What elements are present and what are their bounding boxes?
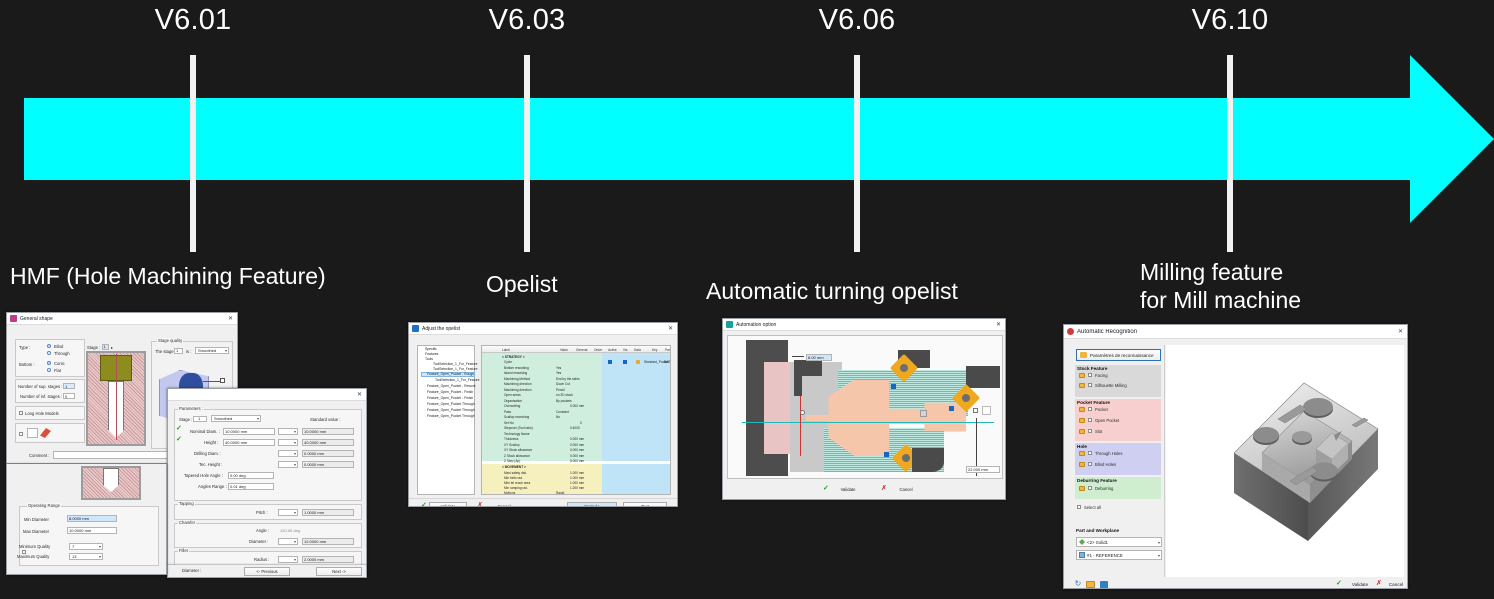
row-value-14: 0.000 mm bbox=[570, 437, 584, 441]
tree-item-2[interactable]: Tools bbox=[425, 357, 433, 361]
titlebar: Automatic Recognition ✕ bbox=[1064, 325, 1407, 339]
row-value-6: on 3D stock bbox=[556, 393, 573, 397]
checkbox-silhouette[interactable] bbox=[1088, 383, 1092, 387]
milestone-caption-4: Milling feature for Mill machine bbox=[1140, 258, 1301, 314]
timeline-tick-2 bbox=[524, 55, 530, 252]
row-value-7: By pockets bbox=[556, 399, 572, 403]
row-label-12: Stepover (Tool ratio) bbox=[504, 426, 533, 430]
tree-item-5[interactable]: Feature_Open_Pocket - Rough bbox=[427, 372, 474, 376]
row-vis-0[interactable] bbox=[623, 360, 627, 364]
col-key: Key bbox=[652, 348, 658, 352]
tool-holder-bottom bbox=[912, 448, 944, 472]
color-swatch[interactable] bbox=[27, 428, 38, 438]
timeline-arrow-body bbox=[24, 98, 1413, 180]
label-silhouette: Silhouette Milling bbox=[1095, 383, 1127, 388]
angles-value: 0.01 deg bbox=[230, 484, 246, 489]
stage-label: Stage : bbox=[87, 345, 100, 350]
row-value-5: Pencil bbox=[556, 388, 565, 392]
version-label-4: V6.10 bbox=[1192, 4, 1269, 37]
sup-stages-label: Number of sup. stages : bbox=[18, 384, 62, 389]
mrow-label-0: Maxi safety dist. bbox=[504, 471, 527, 475]
radio-flat-label: Flat bbox=[54, 368, 61, 373]
row-label-5: Machining direction bbox=[504, 388, 531, 392]
chuck-zone bbox=[764, 362, 790, 454]
row-label-8: Overcutting bbox=[504, 404, 520, 408]
handle-2[interactable] bbox=[949, 406, 954, 411]
handle-3[interactable] bbox=[884, 452, 889, 457]
titlebar: Automation option ✕ bbox=[723, 319, 1005, 331]
milestone-caption-3: Automatic turning opelist bbox=[706, 277, 958, 305]
model-viewport[interactable] bbox=[1166, 345, 1404, 577]
row-label-7: Organisation bbox=[504, 399, 522, 403]
label-through-holes: Through Holes bbox=[1095, 451, 1122, 456]
cancel-button[interactable]: Cancel bbox=[889, 485, 923, 494]
inf-stages-label: Number of inf. stages : bbox=[20, 394, 62, 399]
centerline bbox=[742, 422, 994, 423]
row-label-4: Tec. Height : bbox=[199, 462, 222, 467]
row-label-4: Machining direction bbox=[504, 382, 531, 386]
tree-item-1[interactable]: Features bbox=[425, 352, 438, 356]
row-label-9: Pass bbox=[504, 410, 511, 414]
label-blind-holes: Blind Holes bbox=[1095, 462, 1116, 467]
quality-select[interactable]: Smoothed bbox=[195, 347, 229, 354]
refresh-icon[interactable]: ↻ bbox=[1072, 579, 1084, 589]
sup-stages-value: 1 bbox=[65, 384, 67, 389]
tree-item-3[interactable]: ToolSelection_1_For_Feature bbox=[433, 362, 477, 366]
table-header: Label Value General Order Active Vis. Da… bbox=[482, 346, 670, 353]
screenshot-turning[interactable]: Automation option ✕ bbox=[722, 318, 1006, 500]
screenshot-opelist[interactable]: Adjust the opelist ✕ Specific Features T… bbox=[408, 322, 678, 507]
recognition-params-button[interactable]: Paramètres de reconnaissance bbox=[1076, 349, 1161, 361]
open-folder-icon[interactable] bbox=[1086, 581, 1095, 588]
radio-flat[interactable] bbox=[47, 368, 51, 372]
cancel-icon: ✗ bbox=[1376, 580, 1382, 587]
radio-blind-label: Blind bbox=[54, 344, 63, 349]
panel-divider bbox=[1164, 345, 1165, 577]
fillet-unit-select[interactable] bbox=[278, 556, 298, 563]
row-label-1: Bottom reworking bbox=[504, 366, 529, 370]
standard-value-label: Standard value : bbox=[310, 417, 341, 422]
folder-icon-blind-holes[interactable] bbox=[1079, 462, 1085, 467]
version-label-2: V6.03 bbox=[489, 4, 566, 37]
section-view-small bbox=[81, 466, 141, 500]
radio-through[interactable] bbox=[47, 351, 51, 355]
window-title: General shape bbox=[20, 316, 53, 322]
row-label-3: Machining Method bbox=[504, 377, 530, 381]
mrow-value-0: 1.000 mm bbox=[570, 471, 584, 475]
tree-item-11[interactable]: Feature_Open_Pocket Through bbox=[427, 408, 475, 412]
row-value-3: End by the sides bbox=[556, 377, 580, 381]
col-general: General bbox=[576, 348, 587, 352]
stage-value: 1 bbox=[104, 344, 106, 349]
handle-right-1[interactable] bbox=[973, 408, 978, 413]
max-quality-select[interactable]: 13 bbox=[69, 553, 103, 560]
row-label-11: Set No bbox=[504, 421, 514, 425]
radio-conic[interactable] bbox=[47, 361, 51, 365]
max-diameter-value: 10.0000 mm bbox=[69, 528, 91, 533]
handle-1[interactable] bbox=[891, 384, 896, 389]
text-button[interactable]: Text bbox=[623, 502, 667, 507]
chamfer-standard-value: 12.0000 mm bbox=[304, 539, 326, 544]
row-standard-value-1: 10.0000 mm bbox=[304, 429, 326, 434]
section-view bbox=[86, 351, 146, 446]
mrow-value-2: 1.000 mm bbox=[570, 481, 584, 485]
validate-icon: ✓ bbox=[1336, 580, 1342, 587]
cancel-button[interactable]: Cancel bbox=[1384, 580, 1408, 589]
row-label-17: Z Stock allowance bbox=[504, 454, 530, 458]
row-value-10: No bbox=[556, 415, 560, 419]
min-quality-select[interactable]: 7 bbox=[69, 543, 103, 550]
section-title-pocket: Pocket Feature bbox=[1077, 400, 1110, 405]
dim-top-value: 8.00 mm bbox=[808, 355, 824, 360]
row-unit-select-4[interactable] bbox=[278, 461, 298, 468]
row-unit-select-2[interactable] bbox=[278, 439, 298, 446]
timeline-arrow-head bbox=[1410, 55, 1494, 223]
mrow-value-4: Rapid bbox=[556, 491, 564, 495]
row-value-4: Down Cut bbox=[556, 382, 570, 386]
close-icon[interactable]: ✕ bbox=[1398, 329, 1404, 335]
opelist-table[interactable]: Label Value General Order Active Vis. Da… bbox=[481, 345, 671, 495]
stage-quality-title: Stage quality bbox=[157, 338, 183, 343]
row-value-1: 10.0000 mm bbox=[225, 429, 247, 434]
version-label-1: V6.01 bbox=[155, 4, 232, 37]
milestone-caption-2: Opelist bbox=[486, 270, 558, 298]
row-label-0: Cycle bbox=[504, 360, 512, 364]
tapping-unit-select[interactable] bbox=[278, 509, 298, 516]
app-icon bbox=[10, 315, 17, 322]
validate-button[interactable]: Validate bbox=[429, 502, 467, 507]
label-pocket: Pocket bbox=[1095, 407, 1108, 412]
chamfer-unit-select[interactable] bbox=[278, 538, 298, 545]
row-value-2: 40.0000 mm bbox=[225, 440, 247, 445]
validate-button[interactable]: Validate bbox=[1345, 580, 1375, 589]
stage-quality-select[interactable]: Smoothed bbox=[211, 415, 261, 422]
dim-top-leader bbox=[792, 356, 804, 357]
drill-shape-small bbox=[103, 468, 119, 486]
tapered-value: 0.00 deg bbox=[230, 473, 246, 478]
mrow-label-3: Min ramping rad. bbox=[504, 486, 528, 490]
parameters-group-title: Parameters : bbox=[178, 406, 204, 411]
row-label-14: Thickness bbox=[504, 437, 518, 441]
handle-right-2[interactable] bbox=[982, 406, 991, 415]
col-order: Order bbox=[594, 348, 602, 352]
row-label-13: Technology Name bbox=[504, 432, 530, 436]
fillet-standard-value: 2.0000 mm bbox=[304, 557, 324, 562]
part-workplane-title: Part and Workplane bbox=[1076, 528, 1119, 533]
col-params: Params bbox=[665, 348, 671, 352]
timeline-tick-1 bbox=[190, 55, 196, 252]
chuck-jaw-bottom bbox=[746, 454, 788, 476]
handle-groove[interactable] bbox=[920, 410, 927, 417]
leader-line-1 bbox=[203, 381, 221, 382]
close-icon[interactable]: ✕ bbox=[228, 316, 234, 322]
color-checkbox[interactable] bbox=[19, 432, 23, 436]
row-label-2: Height : bbox=[204, 440, 218, 445]
milestone-caption-1: HMF (Hole Machining Feature) bbox=[10, 262, 326, 290]
validated-icon-1: ✓ bbox=[176, 425, 182, 432]
row-label-18: Z Step (Ap) bbox=[504, 459, 520, 463]
tool-holder-right bbox=[966, 366, 1000, 388]
app-icon bbox=[412, 325, 419, 332]
checkbox-facing[interactable] bbox=[1088, 373, 1092, 377]
tapping-title: Tapping bbox=[178, 501, 195, 506]
folder-icon-slot[interactable] bbox=[1079, 429, 1085, 434]
row-params-0: BASIC bbox=[664, 360, 671, 364]
quality-mid: is : bbox=[186, 349, 191, 354]
cancel-icon: ✗ bbox=[477, 502, 483, 507]
color-group bbox=[15, 423, 85, 443]
row-value-16: 0.000 mm bbox=[570, 448, 584, 452]
row-value-8: 0.000 mm bbox=[570, 404, 584, 408]
checkbox-deburring[interactable] bbox=[1088, 486, 1092, 490]
app-icon bbox=[1067, 328, 1074, 335]
row-value-2: Yes bbox=[556, 371, 561, 375]
max-quality-label: Maximum Quality bbox=[17, 554, 49, 559]
window-title: Automatic Recognition bbox=[1077, 329, 1137, 335]
dim-right-value: 22.000 mm bbox=[968, 467, 988, 472]
row-data-icon-0[interactable] bbox=[636, 360, 640, 364]
row-active-0[interactable] bbox=[608, 360, 612, 364]
timeline-tick-4 bbox=[1227, 55, 1233, 252]
titlebar: Adjust the opelist ✕ bbox=[409, 323, 677, 335]
min-diameter-label: Min Diameter bbox=[24, 517, 49, 522]
quality-num-value: 1 bbox=[176, 348, 178, 353]
screenshot-recognition[interactable]: Automatic Recognition ✕ Paramètres de re… bbox=[1063, 324, 1408, 589]
handle-origin[interactable] bbox=[800, 410, 805, 415]
checkbox-select-all[interactable] bbox=[1077, 505, 1081, 509]
label-slot: Slot bbox=[1095, 429, 1102, 434]
row-label-3: Drilling Diam. : bbox=[194, 451, 221, 456]
validate-icon: ✓ bbox=[823, 485, 829, 492]
part-select[interactable]: <2> Solid1 bbox=[1076, 537, 1162, 547]
workplane-select[interactable]: #1 - REFERENCE bbox=[1076, 550, 1162, 560]
min-quality-label: Minimum Quality bbox=[19, 544, 50, 549]
tree-item-10[interactable]: Feature_Open_Pocket Through bbox=[427, 402, 475, 406]
row-label-6: Open areas bbox=[504, 393, 521, 397]
row-value-1: Yes bbox=[556, 366, 561, 370]
checkbox-slot[interactable] bbox=[1088, 429, 1092, 433]
close-icon[interactable]: ✕ bbox=[668, 326, 674, 332]
section-title-stock: Stock Feature bbox=[1077, 366, 1107, 371]
label-select-all: Select all bbox=[1084, 505, 1101, 510]
tool-shank-left bbox=[794, 360, 802, 396]
col-data: Data bbox=[634, 348, 641, 352]
row-standard-value-2: 40.0000 mm bbox=[304, 440, 326, 445]
titlebar: General shape ✕ bbox=[7, 313, 237, 325]
leader-handle-1[interactable] bbox=[220, 378, 225, 383]
inf-stages-value: 0 bbox=[65, 394, 67, 399]
mrow-value-3: 1.200 mm bbox=[570, 486, 584, 490]
app-icon bbox=[726, 321, 733, 328]
axis-line bbox=[116, 354, 117, 440]
angles-label: Angles Range : bbox=[198, 484, 227, 489]
label-facing: Facing bbox=[1095, 373, 1108, 378]
folder-icon-pocket[interactable] bbox=[1079, 407, 1085, 412]
col-label: Label bbox=[502, 348, 510, 352]
chamfer-title: Chamfer bbox=[178, 520, 196, 525]
folder-icon-through-holes[interactable] bbox=[1079, 451, 1085, 456]
fillet-title: Fillet bbox=[178, 548, 189, 553]
row-value-11: 0 bbox=[580, 421, 582, 425]
movement-band-right bbox=[602, 464, 671, 495]
label-open-pocket: Open Pocket bbox=[1095, 418, 1119, 423]
stage-value: 1 bbox=[198, 416, 200, 421]
tapping-pitch-label: Pitch : bbox=[256, 510, 268, 515]
chamfer-diam-label: Diameter : bbox=[249, 539, 268, 544]
long-hole-checkbox[interactable] bbox=[19, 411, 23, 415]
col-value: Value bbox=[560, 348, 568, 352]
tree-item-8[interactable]: Feature_Open_Pocket - Finish bbox=[427, 390, 473, 394]
row-standard-value-3: 0.0000 mm bbox=[304, 451, 324, 456]
tree-item-7[interactable]: Feature_Open_Pocket - Rework bbox=[427, 384, 476, 388]
mrow-label-4: Motions bbox=[504, 491, 515, 495]
chamfer-angle-value: 120.00 deg bbox=[280, 528, 300, 533]
radio-conic-label: Conic bbox=[54, 361, 65, 366]
max-diameter-label: Max Diameter bbox=[23, 529, 49, 534]
slide-canvas: V6.01 V6.03 V6.06 V6.10 HMF (Hole Machin… bbox=[0, 0, 1494, 599]
close-icon[interactable]: ✕ bbox=[357, 392, 363, 398]
radio-blind[interactable] bbox=[47, 344, 51, 348]
comment-label: Comment : bbox=[29, 453, 49, 458]
next-button[interactable]: Next -> bbox=[316, 567, 362, 576]
part-3d-model bbox=[1166, 345, 1404, 577]
row-label-2: Island reworking bbox=[504, 371, 527, 375]
validated-icon-2: ✓ bbox=[176, 436, 182, 443]
checkbox-through-holes[interactable] bbox=[1088, 451, 1092, 455]
col-active: Active bbox=[608, 348, 617, 352]
stage-suffix: ▸ bbox=[111, 345, 113, 350]
previous-button[interactable]: <- Previous bbox=[244, 567, 290, 576]
row-value-18: 5.000 mm bbox=[570, 459, 584, 463]
row-label-16: XY Stock allowance bbox=[504, 448, 532, 452]
col-vis: Vis. bbox=[623, 348, 628, 352]
fillet-radius-label: Radius : bbox=[254, 557, 269, 562]
strategy-band-right bbox=[602, 353, 671, 461]
label-deburring: Deburring bbox=[1095, 486, 1113, 491]
min-diameter-value: 8.0000 mm bbox=[69, 516, 89, 521]
timeline-tick-3 bbox=[854, 55, 860, 252]
window-title: Automation option bbox=[736, 322, 776, 328]
row-value-9: Constant bbox=[556, 410, 569, 414]
tree-item-9[interactable]: Feature_Open_Pocket - Finish bbox=[427, 396, 473, 400]
radio-through-label: Through bbox=[54, 351, 70, 356]
section-hole bbox=[1075, 443, 1161, 475]
validate-icon: ✓ bbox=[421, 502, 427, 507]
chamfer-angle-label: Angle : bbox=[256, 528, 269, 533]
close-icon[interactable]: ✕ bbox=[996, 322, 1002, 328]
window-title: Adjust the opelist bbox=[422, 326, 460, 332]
row-value-12: 0.4000 bbox=[570, 426, 580, 430]
mrow-label-1: Min helix rad. bbox=[504, 476, 523, 480]
section-movement: < MOVEMENT > bbox=[502, 465, 526, 469]
row-value-17: 0.000 mm bbox=[570, 454, 584, 458]
save-icon[interactable] bbox=[1100, 581, 1108, 589]
row-value-15: 0.000 mm bbox=[570, 443, 584, 447]
row-label-15: XY Scallop bbox=[504, 443, 520, 447]
turning-viewport[interactable]: 8.00 mm 22.000 mm bbox=[727, 335, 1003, 479]
screenshot-parameters[interactable]: ✕ Parameters : Stage : 1 Smoothed Standa… bbox=[167, 388, 367, 575]
workplane-icon bbox=[1079, 552, 1085, 558]
validate-button[interactable]: Validate bbox=[831, 485, 865, 494]
version-label-3: V6.06 bbox=[819, 4, 896, 37]
row-standard-value-4: 0.0000 mm bbox=[304, 462, 324, 467]
folder-icon-deburring[interactable] bbox=[1079, 486, 1085, 491]
checkbox-blind-holes[interactable] bbox=[1088, 462, 1092, 466]
titlebar: ✕ bbox=[168, 389, 366, 401]
tree-item-0[interactable]: Specific bbox=[425, 347, 437, 351]
checkbox-open-pocket[interactable] bbox=[1088, 418, 1092, 422]
row-unit-select-3[interactable] bbox=[278, 450, 298, 457]
type-label: Type : bbox=[19, 345, 30, 350]
row-unit-select-1[interactable] bbox=[278, 428, 298, 435]
formula-button[interactable]: Formula bbox=[567, 502, 617, 507]
checkbox-pocket[interactable] bbox=[1088, 407, 1092, 411]
folder-icon-open-pocket[interactable] bbox=[1079, 418, 1085, 423]
folder-icon-silhouette[interactable] bbox=[1079, 383, 1085, 388]
tree-item-12[interactable]: Feature_Open_Pocket Through bbox=[427, 414, 475, 418]
folder-icon-facing[interactable] bbox=[1079, 373, 1085, 378]
operating-range-title: Operating Range bbox=[27, 503, 61, 508]
cancel-icon: ✗ bbox=[881, 485, 887, 492]
cancel-button[interactable]: Cancel bbox=[485, 502, 523, 507]
screenshot-operating-range[interactable]: Operating Range Min Diameter 8.0000 mm M… bbox=[6, 464, 167, 575]
row-label-1: Nominal Diam. : bbox=[190, 429, 220, 434]
long-hole-label: Long Hole Models bbox=[25, 411, 59, 416]
stage-label: Stage : bbox=[179, 417, 192, 422]
tapping-standard-value: 1.0000 mm bbox=[304, 510, 324, 515]
section-title-deburring: Deburring Feature bbox=[1077, 478, 1117, 483]
section-title-hole: Hole bbox=[1077, 444, 1087, 449]
mrow-label-2: Mini tel reach area bbox=[504, 481, 530, 485]
bottom-label: Bottom : bbox=[19, 362, 35, 367]
row-label-10: Scallop reworking bbox=[504, 415, 529, 419]
end-chamfer-diam-label: Diameter : bbox=[182, 568, 201, 573]
settings-folder-icon bbox=[1080, 352, 1087, 358]
section-strategy: < STRATEGY > bbox=[502, 355, 525, 359]
tree-item-6[interactable]: ToolSelection_1_For_Feature bbox=[435, 378, 479, 382]
tree-item-4[interactable]: ToolSelection_1_For_Feature bbox=[433, 367, 477, 371]
mrow-value-1: 1.000 mm bbox=[570, 476, 584, 480]
tapered-label: Tapered Hole Angle : bbox=[184, 473, 223, 478]
screenshot-parameters-footer[interactable]: Diameter : <- Previous Next -> bbox=[167, 565, 367, 578]
